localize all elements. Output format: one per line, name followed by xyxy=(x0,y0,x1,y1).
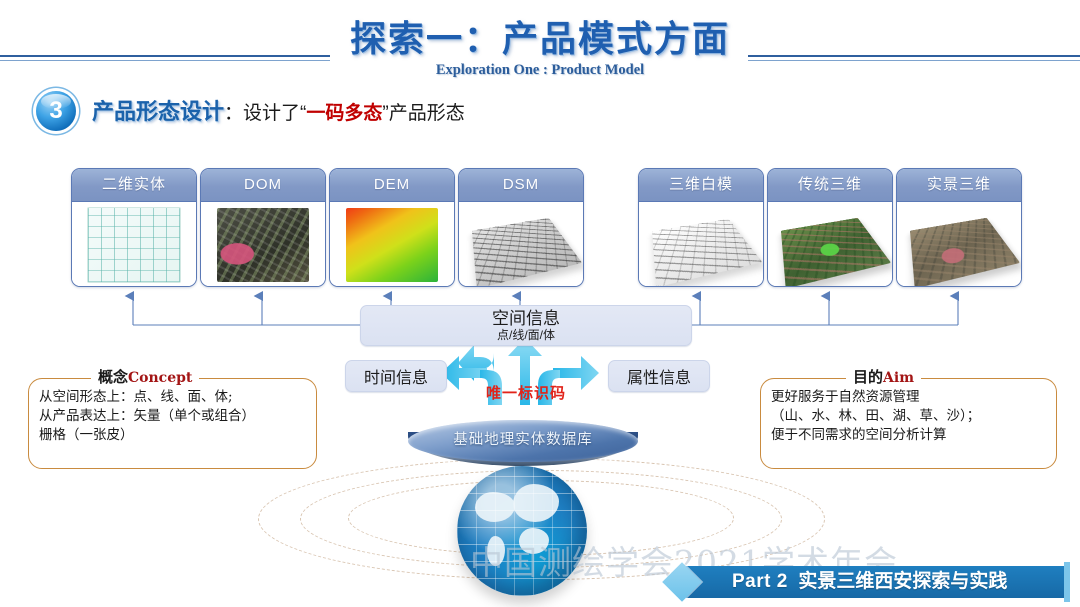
aim-note-line: （山、水、林、田、湖、草、沙）； xyxy=(771,407,1046,426)
aim-legend-en: Aim xyxy=(883,370,914,386)
spatial-information-title: 空间信息 xyxy=(492,310,560,328)
product-card-traditional-3d[interactable]: 传统三维 xyxy=(767,168,893,287)
surface-model-thumbnail xyxy=(472,217,582,287)
footer-part-label: Part 2 xyxy=(732,571,788,592)
card-thumb-wrap xyxy=(201,202,325,287)
concept-legend-cn: 概念 xyxy=(98,368,128,386)
card-label: DSM xyxy=(459,169,583,202)
concept-note-line: 从空间形态上：点、线、面、体; xyxy=(39,388,306,407)
section-heading-tail: 产品形态 xyxy=(389,103,465,124)
aim-note-line: 更好服务于自然资源管理 xyxy=(771,388,1046,407)
aim-note-legend: 目的Aim xyxy=(846,366,921,387)
section-heading-strong: 产品形态设计 xyxy=(92,99,224,124)
title-zone: 探索一：产品模式方面 Exploration One : Product Mod… xyxy=(0,4,1080,84)
card-label: 传统三维 xyxy=(768,169,892,202)
concept-legend-en: Concept xyxy=(128,370,192,386)
database-cylinder[interactable]: 基础地理实体数据库 xyxy=(408,420,638,476)
page-title: 探索一：产品模式方面 xyxy=(0,10,1080,62)
spatial-information-box[interactable]: 空间信息 点/线/面/体 xyxy=(360,305,692,346)
card-label: 实景三维 xyxy=(897,169,1021,202)
footer-end-cap xyxy=(1064,562,1070,602)
card-label: 二维实体 xyxy=(72,169,196,202)
aim-legend-cn: 目的 xyxy=(853,368,883,386)
section-heading: 产品形态设计：设计了“一码多态”产品形态 xyxy=(92,97,465,127)
aim-note-body: 更好服务于自然资源管理 （山、水、林、田、湖、草、沙）； 便于不同需求的空间分析… xyxy=(761,379,1056,445)
section-heading-highlight: 一码多态 xyxy=(306,103,382,124)
elevation-colormap-thumbnail xyxy=(346,208,438,282)
card-thumb-wrap xyxy=(459,202,583,287)
database-label: 基础地理实体数据库 xyxy=(408,428,638,449)
section-heading-colon: ：设计了 xyxy=(224,103,300,124)
white-model-thumbnail xyxy=(652,218,762,286)
concept-note-line: 从产品表达上：矢量（单个或组合） xyxy=(39,407,306,426)
page-subtitle: Exploration One : Product Model xyxy=(0,62,1080,79)
section-number-badge: 3 xyxy=(36,91,76,131)
card-thumb-wrap xyxy=(72,202,196,287)
attribute-information-box[interactable]: 属性信息 xyxy=(608,360,710,392)
aim-note-line: 便于不同需求的空间分析计算 xyxy=(771,426,1046,445)
footer-bar[interactable]: Part 2 实景三维西安探索与实践 xyxy=(686,566,1069,598)
footer-text: Part 2 实景三维西安探索与实践 xyxy=(732,566,1007,598)
vector-linework-thumbnail xyxy=(87,207,181,283)
aim-note-box: 目的Aim 更好服务于自然资源管理 （山、水、林、田、湖、草、沙）； 便于不同需… xyxy=(760,378,1057,469)
card-label: 三维白模 xyxy=(639,169,763,202)
product-card-white-model[interactable]: 三维白模 xyxy=(638,168,764,287)
product-card-2d-entity[interactable]: 二维实体 xyxy=(71,168,197,287)
orthophoto-thumbnail xyxy=(217,208,309,282)
slide-canvas: 探索一：产品模式方面 Exploration One : Product Mod… xyxy=(0,0,1080,607)
concept-note-box: 概念Concept 从空间形态上：点、线、面、体; 从产品表达上：矢量（单个或组… xyxy=(28,378,317,469)
spatial-information-subtitle: 点/线/面/体 xyxy=(497,328,555,342)
card-thumb-wrap xyxy=(330,202,454,287)
reality-3d-thumbnail xyxy=(910,217,1020,287)
unique-identifier-label: 唯一标识码 xyxy=(466,382,586,403)
concept-note-line: 栅格（一张皮） xyxy=(39,426,306,445)
concept-note-body: 从空间形态上：点、线、面、体; 从产品表达上：矢量（单个或组合） 栅格（一张皮） xyxy=(29,379,316,445)
textured-3d-thumbnail xyxy=(781,217,891,287)
card-thumb-wrap xyxy=(897,202,1021,287)
card-thumb-wrap xyxy=(768,202,892,287)
product-card-reality-3d[interactable]: 实景三维 xyxy=(896,168,1022,287)
product-card-dsm[interactable]: DSM xyxy=(458,168,584,287)
product-card-dem[interactable]: DEM xyxy=(329,168,455,287)
card-thumb-wrap xyxy=(639,202,763,287)
footer-title: 实景三维西安探索与实践 xyxy=(798,571,1007,592)
temporal-information-box[interactable]: 时间信息 xyxy=(345,360,447,392)
concept-note-legend: 概念Concept xyxy=(91,366,199,387)
card-label: DEM xyxy=(330,169,454,202)
card-label: DOM xyxy=(201,169,325,202)
product-card-dom[interactable]: DOM xyxy=(200,168,326,287)
